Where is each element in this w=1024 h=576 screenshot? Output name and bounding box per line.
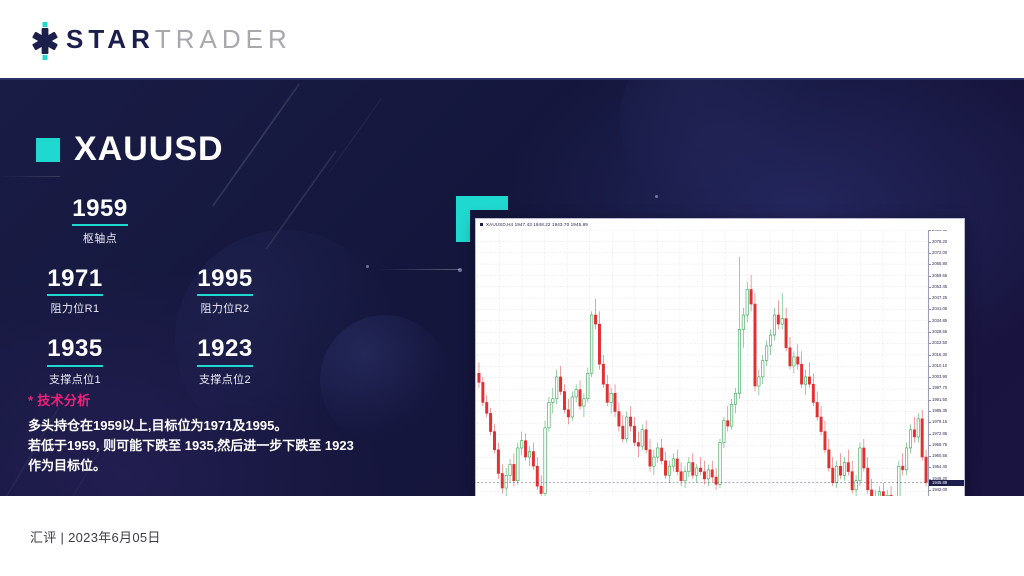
price-tick: 2065.80	[932, 262, 947, 266]
level-r2: 1995 阻力位R2	[150, 260, 300, 316]
level-s2-value: 1923	[150, 336, 300, 361]
current-price-label: 1945.89	[929, 480, 964, 486]
price-tick: 2010.10	[932, 364, 947, 368]
level-r1: 1971 阻力位R1	[0, 260, 150, 316]
page-header: STAR TRADER	[0, 0, 1024, 79]
level-s2: 1923 支撑点位2	[150, 330, 300, 386]
price-tick: 2016.30	[932, 353, 947, 357]
price-tick: 2022.50	[932, 341, 947, 345]
level-s1-value: 1935	[0, 336, 150, 361]
price-tick: 2084.65	[932, 230, 947, 232]
main-stage: XAUUSD 1959 枢轴点 1971 阻力位R1 1995	[0, 80, 1024, 496]
level-underline	[72, 224, 128, 226]
resistance-row: 1971 阻力位R1 1995 阻力位R2	[0, 260, 300, 316]
pivot-row: 1959 枢轴点	[0, 190, 300, 246]
chart-title-bar: XAUUSD,H4 1947.43 1948.22 1943.70 1945.8…	[476, 219, 964, 230]
level-underline	[47, 294, 103, 296]
price-tick: 2028.65	[932, 330, 947, 334]
price-tick: 2072.00	[932, 251, 947, 255]
chart-title-marker-icon	[480, 223, 483, 226]
price-tick: 1954.40	[932, 465, 947, 469]
price-tick: 2003.90	[932, 375, 947, 379]
level-underline	[197, 294, 253, 296]
analysis-line-1: 多头持仓在1959以上,目标位为1971及1995。	[28, 416, 428, 436]
level-underline	[197, 365, 253, 367]
candlestick-chart[interactable]: XAUUSD,H4 1947.43 1948.22 1943.70 1945.8…	[475, 218, 965, 496]
price-tick: 1960.55	[932, 454, 947, 458]
chart-title-text: XAUUSD,H4 1947.43 1948.22 1943.70 1945.8…	[486, 222, 588, 227]
chart-plot-area[interactable]	[477, 230, 928, 496]
instrument-marker-square	[36, 138, 60, 162]
level-r2-value: 1995	[150, 266, 300, 291]
technical-analysis: * 技术分析 多头持仓在1959以上,目标位为1971及1995。 若低于195…	[28, 390, 428, 476]
analysis-body: 多头持仓在1959以上,目标位为1971及1995。 若低于1959, 则可能下…	[28, 416, 428, 476]
left-panel: XAUUSD 1959 枢轴点 1971 阻力位R1 1995	[0, 80, 430, 496]
level-s1-label: 支撑点位1	[0, 371, 150, 387]
price-tick: 1991.50	[932, 398, 947, 402]
brand-name-light: TRADER	[155, 24, 292, 55]
price-tick: 1985.35	[932, 409, 947, 413]
level-pivot-label: 枢轴点	[25, 230, 175, 246]
footer-text: 汇评 | 2023年6月05日	[30, 527, 161, 546]
price-tick: 2047.25	[932, 296, 947, 300]
price-levels: 1959 枢轴点 1971 阻力位R1 1995 阻力位R2	[0, 190, 300, 387]
brand-logo[interactable]: STAR TRADER	[28, 22, 292, 58]
level-r1-value: 1971	[0, 266, 150, 291]
price-tick: 2053.45	[932, 285, 947, 289]
price-tick: 1966.75	[932, 443, 947, 447]
support-row: 1935 支撑点位1 1923 支撑点位2	[0, 330, 300, 386]
price-tick: 2041.05	[932, 307, 947, 311]
price-tick: 1972.95	[932, 432, 947, 436]
level-underline	[47, 365, 103, 367]
instrument-symbol: XAUUSD	[74, 130, 224, 169]
level-pivot-value: 1959	[25, 196, 175, 221]
level-r1-label: 阻力位R1	[0, 300, 150, 316]
chart-zone: XAUUSD,H4 1947.43 1948.22 1943.70 1945.8…	[440, 110, 1000, 470]
chart-canvas	[477, 230, 928, 496]
level-pivot: 1959 枢轴点	[25, 190, 175, 246]
price-axis[interactable]: 2084.652078.202072.002065.802059.652053.…	[928, 230, 964, 496]
level-s1: 1935 支撑点位1	[0, 330, 150, 386]
analysis-heading: * 技术分析	[28, 390, 428, 409]
price-tick: 2078.20	[932, 240, 947, 244]
instrument-title: XAUUSD	[36, 130, 224, 169]
price-tick: 1979.15	[932, 420, 947, 424]
corner-bracket-top-left	[456, 196, 470, 242]
level-r2-label: 阻力位R2	[150, 300, 300, 316]
price-tick: 1942.00	[932, 488, 947, 492]
level-s2-label: 支撑点位2	[150, 371, 300, 387]
page-footer: 汇评 | 2023年6月05日	[0, 496, 1024, 576]
brand-name-bold: STAR	[66, 24, 155, 55]
price-tick: 2034.85	[932, 319, 947, 323]
analysis-line-2: 若低于1959, 则可能下跌至 1935,然后进一步下跌至 1923	[28, 436, 428, 456]
price-tick: 2059.65	[932, 274, 947, 278]
star-asterisk-icon	[28, 22, 62, 58]
price-tick: 1997.70	[932, 386, 947, 390]
analysis-line-3: 作为目标位。	[28, 456, 428, 476]
